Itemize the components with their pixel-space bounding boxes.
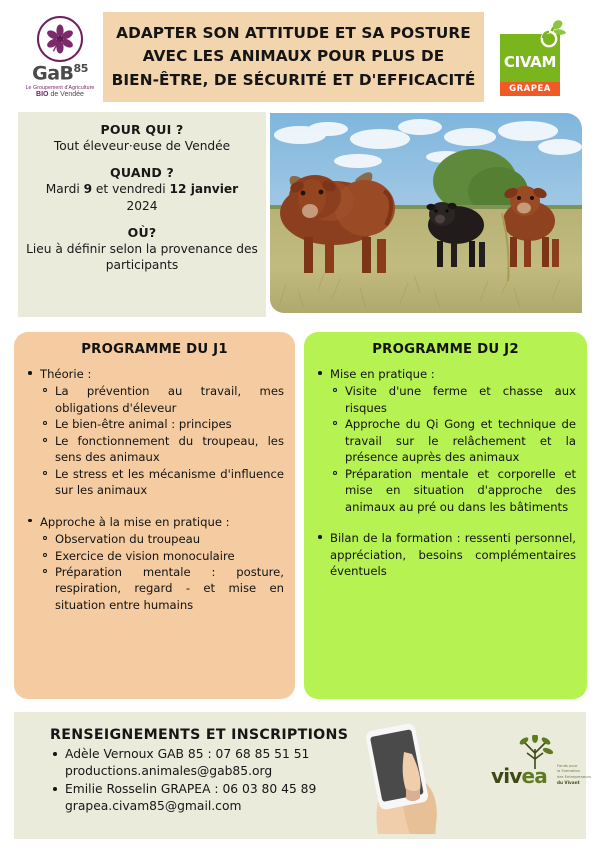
sub-list: La prévention au travail, mes obligation… — [40, 383, 284, 498]
value-pour-qui: Tout éleveur·euse de Vendée — [26, 138, 258, 154]
sub-list: Visite d'une ferme et chasse aux risques… — [330, 383, 576, 515]
gab-number: 85 — [74, 62, 88, 75]
sub-item-label: Approche du Qi Gong et technique de trav… — [345, 417, 576, 464]
list-item: Approche à la mise en pratique : Observa… — [25, 514, 284, 614]
circle-bullet-icon — [43, 388, 47, 392]
value-quand-year: 2024 — [26, 198, 258, 214]
cattle-pasture-photo — [270, 113, 582, 313]
group-heading: Bilan de la formation : ressenti personn… — [330, 531, 576, 578]
value-ou: Lieu à définir selon la provenance des p… — [26, 241, 258, 273]
group-heading: Théorie : — [40, 367, 91, 381]
civam-grapea-logo: CIVAM GRAPEA — [496, 17, 572, 95]
contact-name-phone: Emilie Rosselin GRAPEA : 06 03 80 45 89 — [65, 782, 316, 796]
bullet-icon — [318, 371, 322, 375]
sub-item-label: Le stress et les mécanisme d'influence s… — [55, 467, 284, 497]
programme-j2-list: Mise en pratique : Visite d'une ferme et… — [315, 366, 576, 579]
list-item: Préparation mentale et corporelle et mis… — [330, 466, 576, 515]
label-ou: OÙ? — [26, 225, 258, 240]
poster-root: GaB85 Le Groupement d'Agriculture BIO de… — [0, 0, 600, 849]
list-item: Le stress et les mécanisme d'influence s… — [40, 466, 284, 499]
gab-flower-icon — [37, 16, 83, 62]
programme-j1-title: PROGRAMME DU J1 — [25, 342, 284, 357]
vivea-wordmark: vivea — [491, 764, 547, 788]
contact-name-phone: Adèle Vernoux GAB 85 : 07 68 85 51 51 — [65, 747, 309, 761]
contact-footer: RENSEIGNEMENTS ET INSCRIPTIONS Adèle Ver… — [14, 712, 586, 839]
sub-item-label: Le fonctionnement du troupeau, les sens … — [55, 434, 284, 464]
value-quand: Mardi 9 et vendredi 12 janvier — [26, 181, 258, 197]
circle-bullet-icon — [43, 471, 47, 475]
page-title-line-3: BIEN-ÊTRE, DE SÉCURITÉ ET D'EFFICACITÉ — [112, 69, 476, 92]
poster-title-banner: ADAPTER SON ATTITUDE ET SA POSTURE AVEC … — [103, 12, 484, 102]
sub-item-label: Exercice de vision monoculaire — [55, 549, 235, 563]
circle-bullet-icon — [333, 421, 337, 425]
circle-bullet-icon — [43, 536, 47, 540]
spacer — [25, 501, 284, 514]
list-item: Mise en pratique : Visite d'une ferme et… — [315, 366, 576, 515]
footer-title: RENSEIGNEMENTS ET INSCRIPTIONS — [50, 727, 572, 743]
group-heading: Mise en pratique : — [330, 367, 435, 381]
circle-bullet-icon — [43, 421, 47, 425]
gab-name: GaB — [32, 62, 73, 84]
gab-vendee-word: de Vendée — [49, 91, 84, 98]
page-title-line-1: ADAPTER SON ATTITUDE ET SA POSTURE — [116, 22, 471, 45]
bullet-icon — [28, 371, 32, 375]
vivea-logo: vivea Fonds pour la Formation des Entrep… — [491, 744, 596, 794]
label-pour-qui: POUR QUI ? — [26, 122, 258, 137]
quand-day2: 12 janvier — [170, 182, 239, 196]
circle-bullet-icon — [333, 388, 337, 392]
sub-item-label: Visite d'une ferme et chasse aux risques — [345, 384, 576, 414]
gab-wordmark: GaB85 — [14, 63, 106, 84]
event-details-box: POUR QUI ? Tout éleveur·euse de Vendée Q… — [18, 112, 266, 317]
programme-j2-title: PROGRAMME DU J2 — [315, 342, 576, 357]
gab-bio-word: BIO — [36, 91, 48, 98]
vivea-word-a: viv — [491, 764, 522, 788]
contact-email[interactable]: grapea.civam85@gmail.com — [65, 799, 241, 813]
quand-prefix: Mardi — [46, 182, 84, 196]
bullet-icon — [28, 519, 32, 523]
list-item: Observation du troupeau — [40, 531, 284, 547]
sprout-icon — [534, 17, 568, 58]
bullet-icon — [318, 535, 322, 539]
spacer — [315, 517, 576, 530]
bullet-icon — [53, 787, 57, 791]
list-item: Théorie : La prévention au travail, mes … — [25, 366, 284, 499]
contact-email[interactable]: productions.animales@gab85.org — [65, 764, 272, 778]
poster-header: GaB85 Le Groupement d'Agriculture BIO de… — [0, 0, 600, 110]
list-item: Le fonctionnement du troupeau, les sens … — [40, 433, 284, 466]
sub-list: Observation du troupeau Exercice de visi… — [40, 531, 284, 613]
vivea-tagline: Fonds pour la Formation des Entrepreneur… — [557, 764, 600, 786]
list-item: Approche du Qi Gong et technique de trav… — [330, 416, 576, 465]
list-item: Préparation mentale : posture, respirati… — [40, 564, 284, 613]
list-item: La prévention au travail, mes obligation… — [40, 383, 284, 416]
spacer — [26, 154, 258, 165]
group-heading: Approche à la mise en pratique : — [40, 515, 230, 529]
vivea-word-b: ea — [522, 764, 547, 788]
circle-bullet-icon — [43, 553, 47, 557]
gab85-logo: GaB85 Le Groupement d'Agriculture BIO de… — [14, 16, 106, 100]
sub-item-label: Préparation mentale et corporelle et mis… — [345, 467, 576, 514]
sub-item-label: Le bien-être animal : principes — [55, 417, 232, 431]
label-quand: QUAND ? — [26, 165, 258, 180]
programme-j1-box: PROGRAMME DU J1 Théorie : La prévention … — [14, 332, 295, 699]
gab-subtitle-line2: BIO de Vendée — [14, 91, 106, 99]
vivea-tagline-l4: du Vivant — [557, 780, 600, 786]
list-item: Exercice de vision monoculaire — [40, 548, 284, 564]
circle-bullet-icon — [43, 569, 47, 573]
sub-item-label: Observation du troupeau — [55, 532, 200, 546]
quand-middle: et vendredi — [92, 182, 169, 196]
sub-item-label: La prévention au travail, mes obligation… — [55, 384, 284, 414]
list-item: Visite d'une ferme et chasse aux risques — [330, 383, 576, 416]
circle-bullet-icon — [43, 438, 47, 442]
vivea-tagline-l4-bold: du Vivant — [557, 780, 580, 785]
spacer — [26, 214, 258, 225]
list-item: Le bien-être animal : principes — [40, 416, 284, 432]
sub-item-label: Préparation mentale : posture, respirati… — [55, 565, 284, 612]
hand-holding-smartphone-illustration — [344, 718, 472, 839]
bullet-icon — [53, 752, 57, 756]
civam-wordmark: CIVAM — [500, 53, 560, 71]
page-title-line-2: AVEC LES ANIMAUX POUR PLUS DE — [143, 45, 445, 68]
programme-j2-box: PROGRAMME DU J2 Mise en pratique : Visit… — [304, 332, 587, 699]
circle-bullet-icon — [333, 471, 337, 475]
programme-j1-list: Théorie : La prévention au travail, mes … — [25, 366, 284, 613]
list-item: Bilan de la formation : ressenti personn… — [315, 530, 576, 579]
quand-day1: 9 — [84, 182, 92, 196]
grapea-wordmark: GRAPEA — [500, 82, 560, 96]
